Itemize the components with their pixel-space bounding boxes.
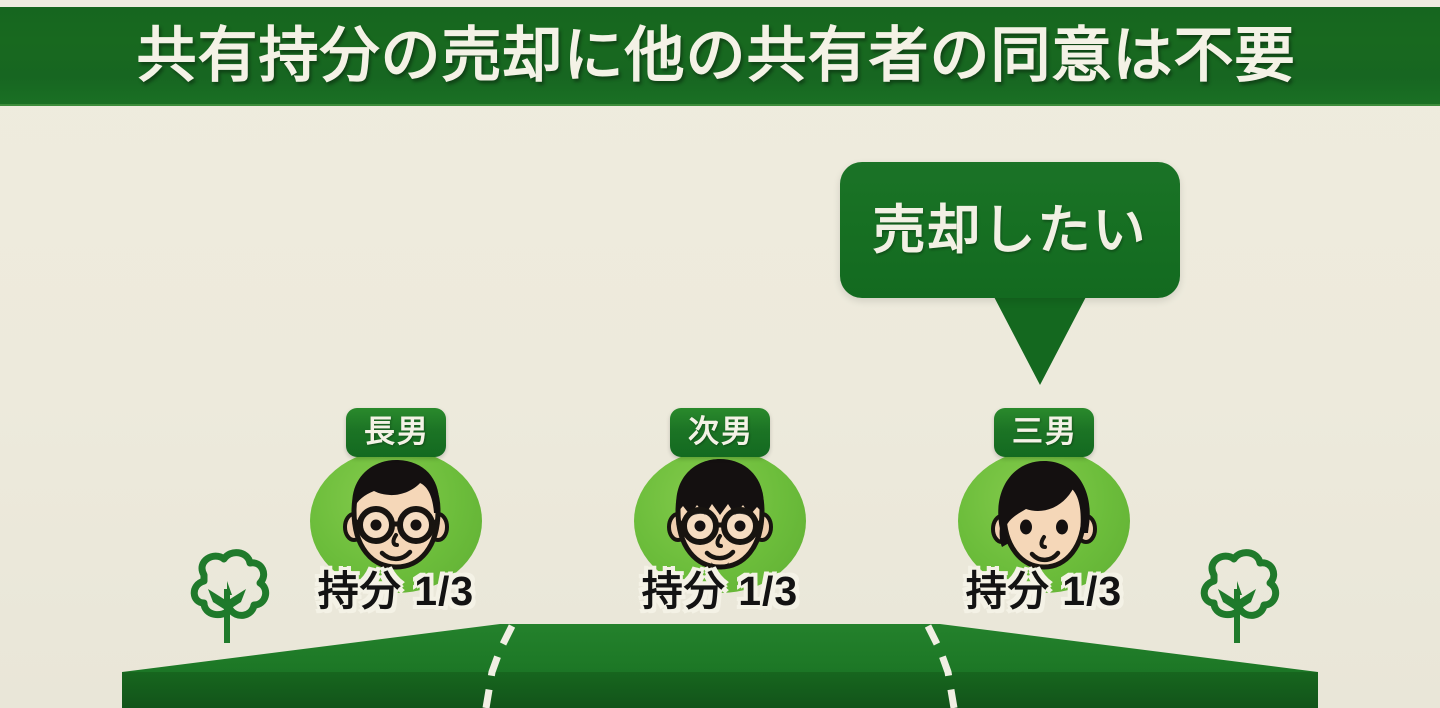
tree-left	[168, 545, 284, 653]
role-badge-third-son: 三男	[994, 408, 1094, 457]
tree-right	[1178, 545, 1294, 653]
land-front-face	[122, 672, 1318, 708]
infographic-slide: 共有持分の売却に他の共有者の同意は不要	[0, 0, 1440, 708]
hair	[676, 459, 763, 515]
speech-bubble-body: 売却したい	[840, 162, 1180, 298]
share-label-eldest-son: 持分 1/3	[296, 571, 496, 612]
speech-bubble: 売却したい	[840, 162, 1180, 298]
top-letterbox-strip	[0, 0, 1440, 7]
speech-bubble-tail	[992, 293, 1088, 385]
person-group-second-son: 次男	[620, 408, 820, 612]
person-group-third-son: 三男 持分 1/3	[944, 408, 1144, 612]
header-banner: 共有持分の売却に他の共有者の同意は不要	[0, 7, 1440, 106]
role-badge-second-son: 次男	[670, 408, 770, 457]
speech-bubble-text: 売却したい	[873, 204, 1148, 257]
page-title: 共有持分の売却に他の共有者の同意は不要	[137, 26, 1296, 86]
role-badge-eldest-son: 長男	[346, 408, 446, 457]
share-label-third-son: 持分 1/3	[944, 571, 1144, 612]
person-group-eldest-son: 長男	[296, 408, 496, 612]
share-label-second-son: 持分 1/3	[620, 571, 820, 612]
